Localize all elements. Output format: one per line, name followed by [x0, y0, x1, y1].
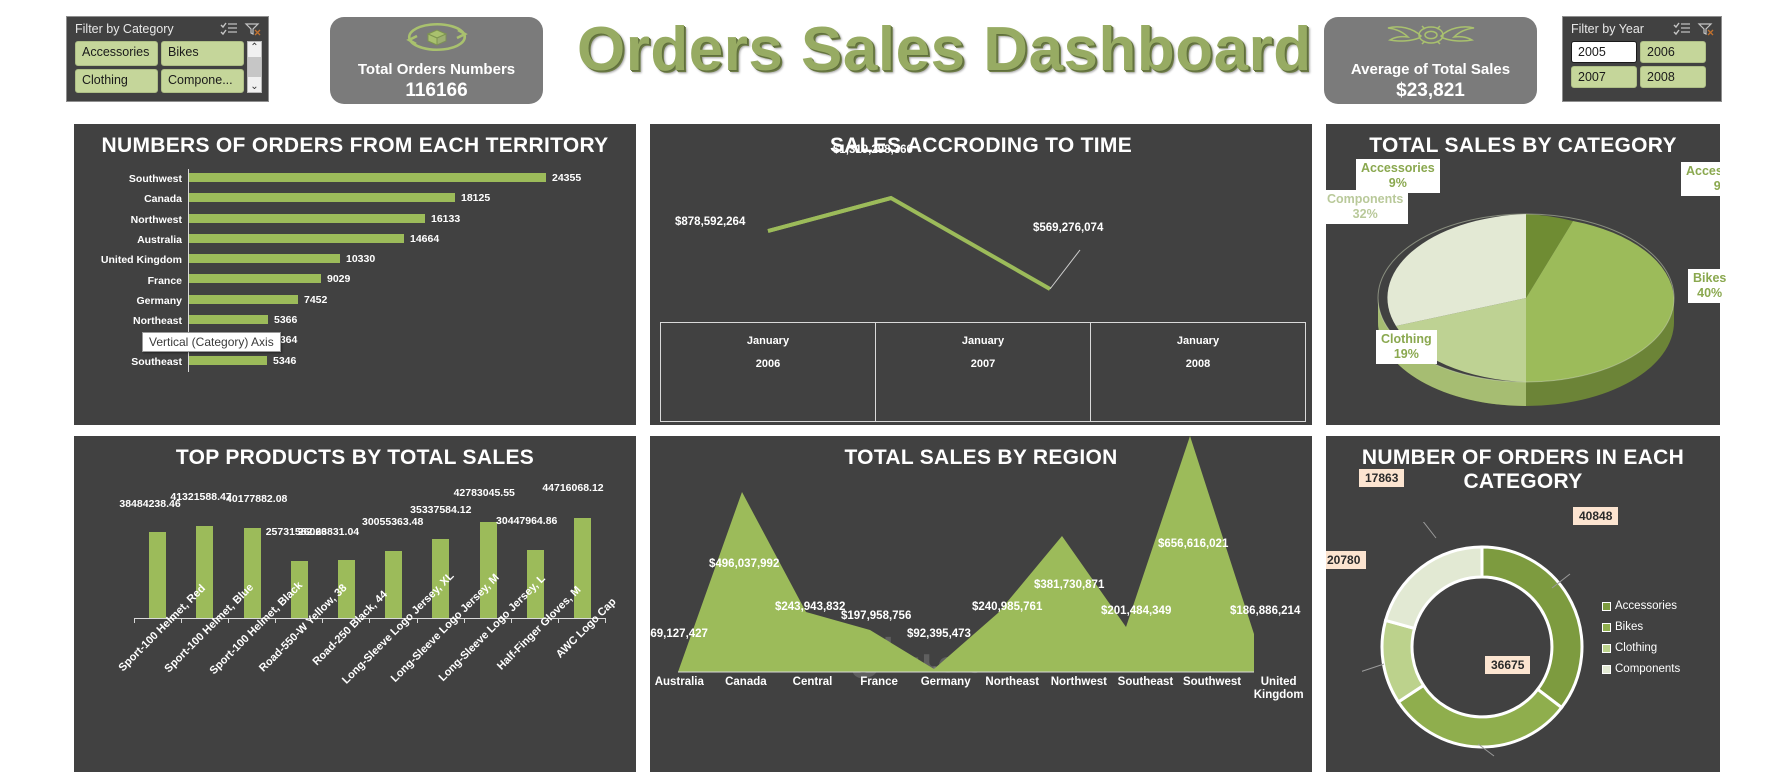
territory-value: 10330 [346, 253, 375, 265]
legend-swatch [1602, 602, 1611, 611]
kpi-total-orders: Total Orders Numbers 116166 [330, 17, 543, 104]
category-slicer-scrollbar[interactable]: ⌃ ⌄ [247, 41, 262, 93]
pie-value: 9% [1714, 179, 1722, 193]
donut-value-accessories: 40848 [1573, 507, 1618, 525]
territory-bar [189, 356, 267, 365]
multi-select-icon[interactable] [1673, 22, 1691, 36]
region-label: Northeast [979, 676, 1046, 702]
year-slicer-title: Filter by Year [1571, 22, 1667, 36]
region-label: Australia [648, 676, 713, 702]
product-axis-line [134, 618, 606, 619]
territory-value: 24355 [552, 172, 581, 184]
time-axis-month: January [1177, 335, 1219, 347]
year-slicer[interactable]: Filter by Year 2005 2006 2007 [1562, 16, 1722, 102]
page-title: Orders Sales Dashboard [577, 14, 1312, 85]
legend-item-clothing[interactable]: Clothing [1602, 642, 1680, 654]
time-axis-cell: January 2008 [1091, 323, 1305, 421]
dashboard-root: Filter by Category Accessories [0, 0, 1792, 774]
time-value-2008: $569,276,074 [1033, 222, 1103, 234]
territory-value: 14664 [410, 233, 439, 245]
legend-label: Components [1615, 663, 1680, 675]
region-label: Germany [912, 676, 979, 702]
pie-label: Accessories [1686, 164, 1722, 178]
product-value: 35337584.12 [410, 504, 471, 516]
pie-callout-bikes: Bikes 40% [1688, 269, 1731, 303]
table-row[interactable]: Southwest 24355 [96, 169, 624, 189]
territory-bar [189, 254, 340, 263]
region-value-northwest: $381,730,871 [1034, 579, 1104, 591]
scroll-up-icon[interactable]: ⌃ [250, 42, 258, 53]
scroll-thumb[interactable] [248, 57, 261, 77]
time-axis-table: January 2006 January 2007 January 2008 [660, 322, 1306, 422]
time-axis-year: 2007 [971, 358, 995, 370]
package-recycle-icon [402, 20, 472, 57]
category-option-components[interactable]: Compone... [161, 69, 244, 94]
territory-label: Germany [96, 295, 188, 307]
table-row[interactable]: France 9029 [96, 270, 624, 290]
pie-label: Clothing [1381, 332, 1432, 346]
territory-value: 5346 [273, 355, 296, 367]
legend-label: Clothing [1615, 642, 1657, 654]
region-value-germany: $92,395,473 [907, 628, 971, 640]
region-label: Southwest [1179, 676, 1246, 702]
pie-callout-accessories: Accessories 9% [1681, 162, 1722, 196]
year-option-2007[interactable]: 2007 [1571, 66, 1637, 88]
product-value: 44716068.12 [542, 482, 603, 494]
time-value-2007: $1,319,298,360 [833, 144, 913, 156]
donut-value-bikes: 36675 [1485, 656, 1530, 674]
category-option-clothing[interactable]: Clothing [75, 69, 158, 94]
region-value-united-kingdom: $186,886,214 [1230, 605, 1300, 617]
panel-sales-by-region: TOTAL SALES BY REGION دهمسال $69,127,427… [648, 434, 1314, 774]
table-row[interactable]: Germany 7452 [96, 291, 624, 311]
territory-bar [189, 295, 298, 304]
region-label: France [846, 676, 913, 702]
product-bar [244, 528, 261, 618]
kpi-total-orders-value: 116166 [405, 80, 467, 102]
territory-label: Northeast [96, 315, 188, 327]
product-value: 26063831.04 [298, 526, 359, 538]
pie-value: 32% [1353, 207, 1378, 221]
pie-label: Accessories [1361, 161, 1435, 175]
year-option-2006[interactable]: 2006 [1640, 41, 1706, 63]
region-label: United Kingdom [1245, 676, 1312, 702]
region-value-southeast: $201,484,349 [1101, 605, 1171, 617]
table-row[interactable]: United Kingdom 10330 [96, 250, 624, 270]
region-axis-labels: Australia Canada Central France Germany … [648, 676, 1312, 702]
region-label: Southeast [1112, 676, 1179, 702]
product-value: 42783045.55 [454, 487, 515, 499]
category-option-list[interactable]: Accessories Bikes Clothing Compone... [75, 41, 244, 93]
territory-bar [189, 193, 455, 202]
region-value-canada: $496,037,992 [709, 558, 779, 570]
region-label: Canada [713, 676, 780, 702]
multi-select-icon[interactable] [220, 22, 238, 36]
territory-label: Australia [96, 234, 188, 246]
pie-callout-accessories: Accessories 9% [1356, 159, 1440, 193]
time-axis-year: 2006 [756, 358, 780, 370]
table-row[interactable]: Southeast 5346 [96, 352, 624, 372]
legend-swatch [1602, 665, 1611, 674]
legend-label: Bikes [1615, 621, 1643, 633]
winged-money-icon [1385, 20, 1477, 57]
chart-title-category-pie: TOTAL SALES BY CATEGORY [1326, 124, 1720, 158]
table-row[interactable]: Canada 18125 [96, 189, 624, 209]
time-axis-month: January [962, 335, 1004, 347]
region-value-southwest: $656,616,021 [1158, 538, 1228, 550]
territory-label: Northwest [96, 214, 188, 226]
pie-value: 9% [1389, 176, 1407, 190]
legend-item-components[interactable]: Components [1602, 663, 1680, 675]
pie-label: Components [1327, 192, 1403, 206]
clear-filter-icon[interactable] [244, 22, 262, 36]
legend-item-accessories[interactable]: Accessories [1602, 600, 1680, 612]
territory-bar [189, 173, 546, 182]
donut-legend: Accessories Bikes Clothing Components [1602, 600, 1680, 675]
year-slicer-header: Filter by Year [1571, 22, 1715, 36]
panel-territory-orders: NUMBERS OF ORDERS FROM EACH TERRITORY So… [72, 122, 638, 427]
territory-label: Southwest [96, 173, 188, 185]
panel-sales-over-time: SALES ACCRODING TO TIME $878,592,264 $1,… [648, 122, 1314, 427]
clear-filter-icon[interactable] [1697, 22, 1715, 36]
territory-bar [189, 315, 268, 324]
territory-value: 16133 [431, 213, 460, 225]
product-bar [149, 532, 166, 618]
territory-bar [189, 234, 404, 243]
territory-label: Southeast [96, 356, 188, 368]
territory-label: Canada [96, 193, 188, 205]
region-value-australia: $69,127,427 [648, 628, 708, 640]
product-value: 41321588.47 [170, 491, 231, 503]
time-axis-cell: January 2006 [661, 323, 876, 421]
product-bar [480, 522, 497, 618]
time-axis-cell: January 2007 [876, 323, 1091, 421]
region-value-france: $197,958,756 [841, 610, 911, 622]
kpi-average-sales-value: $23,821 [1396, 80, 1465, 102]
time-value-2006: $878,592,264 [675, 216, 745, 228]
time-axis-year: 2008 [1186, 358, 1210, 370]
category-option-bikes[interactable]: Bikes [161, 41, 244, 66]
pie-value: 40% [1697, 286, 1722, 300]
territory-label: United Kingdom [96, 254, 188, 266]
product-bar [196, 526, 213, 618]
pie-callout-clothing: Clothing 19% [1376, 330, 1437, 364]
pie-callout-components: Components 32% [1322, 190, 1408, 224]
territory-label: France [96, 275, 188, 287]
time-axis-month: January [747, 335, 789, 347]
product-bar [574, 518, 591, 618]
donut-chart [1362, 522, 1602, 772]
territory-value: 18125 [461, 192, 490, 204]
category-slicer-header: Filter by Category [75, 22, 262, 36]
product-bar [385, 551, 402, 618]
territory-bar [189, 274, 321, 283]
table-row[interactable]: Australia 14664 [96, 230, 624, 250]
region-label: Central [779, 676, 846, 702]
pie-chart-3d [1366, 176, 1686, 406]
category-slicer-title: Filter by Category [75, 22, 214, 36]
year-option-list[interactable]: 2005 2006 2007 2008 [1571, 41, 1715, 88]
chart-title-territory: NUMBERS OF ORDERS FROM EACH TERRITORY [74, 124, 636, 158]
kpi-average-sales-label: Average of Total Sales [1351, 61, 1510, 78]
territory-value: 9029 [327, 273, 350, 285]
chart-title-top-products: TOP PRODUCTS BY TOTAL SALES [74, 436, 636, 470]
legend-label: Accessories [1615, 600, 1677, 612]
year-option-2008[interactable]: 2008 [1640, 66, 1706, 88]
donut-value-clothing: 20780 [1324, 551, 1366, 569]
pie-value: 19% [1394, 347, 1419, 361]
product-value: 30055363.48 [362, 516, 423, 528]
panel-top-products: TOP PRODUCTS BY TOTAL SALES 38484238.46 … [72, 434, 638, 774]
territory-value: 5366 [274, 314, 297, 326]
panel-orders-by-category: NUMBER OF ORDERS IN EACH CATEGORY 17863 … [1324, 434, 1722, 774]
scroll-down-icon[interactable]: ⌄ [250, 81, 258, 92]
category-option-accessories[interactable]: Accessories [75, 41, 158, 66]
region-value-central: $243,943,832 [775, 601, 845, 613]
bar-column[interactable]: 38484238.46 [134, 496, 181, 618]
axis-tooltip: Vertical (Category) Axis [142, 332, 281, 352]
year-option-2005[interactable]: 2005 [1571, 41, 1637, 63]
product-value: 30447964.86 [496, 515, 557, 527]
kpi-total-orders-label: Total Orders Numbers [358, 61, 515, 78]
legend-item-bikes[interactable]: Bikes [1602, 621, 1680, 633]
region-label: Northwest [1046, 676, 1113, 702]
table-row[interactable]: Northwest 16133 [96, 210, 624, 230]
territory-bar [189, 214, 425, 223]
kpi-average-sales: Average of Total Sales $23,821 [1324, 17, 1537, 104]
territory-value: 7452 [304, 294, 327, 306]
pie-label: Bikes [1693, 271, 1726, 285]
region-value-northeast: $240,985,761 [972, 601, 1042, 613]
legend-swatch [1602, 623, 1611, 632]
table-row[interactable]: Northeast 5366 [96, 311, 624, 331]
donut-value-components: 17863 [1359, 469, 1404, 487]
legend-swatch [1602, 644, 1611, 653]
category-slicer[interactable]: Filter by Category Accessories [66, 16, 269, 102]
